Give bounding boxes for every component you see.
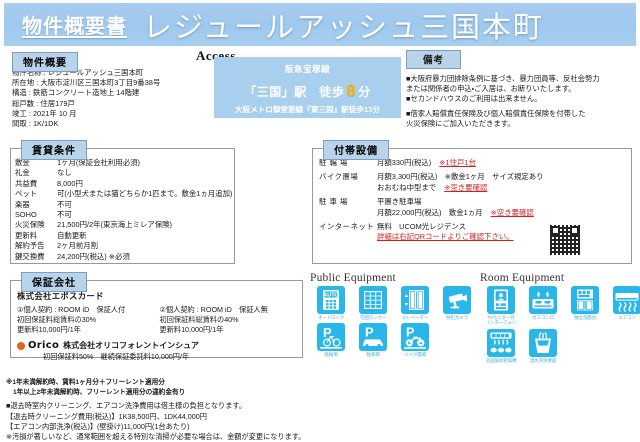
public-equipment-title: Public Equipment bbox=[310, 272, 478, 284]
plan-a-line-1: ①個人契約 : ROOM iD 保証人付 bbox=[17, 305, 160, 315]
mail-box-icon bbox=[359, 286, 387, 314]
room-equipment-title: Room Equipment bbox=[480, 272, 640, 284]
table-row: インターネット 無料 UCOM光レジデンス 詳細は右記QRコードよりご確認下さい… bbox=[319, 222, 631, 243]
auto-lock-icon: AUTO bbox=[317, 286, 345, 314]
orico-fee-detail: 初回保証料50% 継続保証委託料10,000円/年 bbox=[43, 352, 302, 362]
equipment-caption: オートロック bbox=[310, 315, 352, 320]
orico-row: Orico 株式会社オリコフォレントインシュア bbox=[17, 340, 302, 351]
rental-value-cancelnotice: 2ヶ月前月割 bbox=[57, 241, 234, 251]
equipment-item: TVモニター付 インターフォン bbox=[480, 286, 522, 326]
document-kind-title: 物件概要書 bbox=[22, 10, 127, 39]
equipment-caption: 温水洗浄便座 bbox=[522, 358, 564, 363]
equipment-item: エアコン bbox=[606, 286, 640, 326]
equipment-item: P 駐輪場 bbox=[310, 323, 352, 357]
public-equipment-group: Public Equipment AUTO bbox=[310, 272, 478, 361]
facility-parking-line1: 平置き駐車場 bbox=[377, 197, 631, 207]
svg-text:P: P bbox=[406, 326, 414, 340]
tv-intercom-icon bbox=[487, 286, 515, 314]
access-train-line: 阪急宝塚線 bbox=[214, 63, 401, 75]
rental-value-pet: 可(小型犬または猫どちらか1匹まで。敷金1ヵ月追加) bbox=[57, 189, 234, 199]
guarantee-plan-a: ①個人契約 : ROOM iD 保証人付 初回保証料総賃料の30% 更新料10,… bbox=[17, 305, 160, 334]
guarantee-inner: 株式会社エポスカード ①個人契約 : ROOM iD 保証人付 初回保証料総賃料… bbox=[11, 281, 302, 362]
access-primary-station: 「三国」駅 徒歩8分 bbox=[214, 81, 401, 101]
table-row: SOHO 不可 bbox=[15, 210, 234, 220]
svg-text:AUTO: AUTO bbox=[323, 293, 338, 299]
equipment-item: 宅配ロッカー bbox=[352, 286, 394, 320]
equipment-item: 独立洗面台 bbox=[564, 286, 606, 326]
facility-internet-note: 詳細は右記QRコードよりご確認下さい。 bbox=[377, 232, 631, 242]
facility-value-motorbike: 月額3,300円(税込) ※敷金1ヶ月 サイズ規定あり おおむね中型まで ※空き… bbox=[377, 172, 631, 193]
equipment-item: P バイク置場 bbox=[394, 323, 436, 357]
guarantee-plan-b: ②個人契約 : ROOM iD 保証人無 初回保証料総賃料の40% 更新料10,… bbox=[160, 305, 303, 334]
facilities-rows: 駐 輪 場 月額330円(税込) ※1住戸1台 バイク置場 月額3,300円(税… bbox=[313, 149, 631, 243]
orico-corporate-name: 株式会社オリコフォレントインシュア bbox=[63, 340, 199, 351]
equipment-item: エレベーター bbox=[394, 286, 436, 320]
overview-line-completion: 竣工 : 2021年 10 月 bbox=[12, 109, 210, 119]
equipment-caption: 防犯カメラ bbox=[436, 315, 478, 320]
equipment-caption: バイク置場 bbox=[394, 352, 436, 357]
access-walk-minutes: 8 bbox=[344, 81, 358, 100]
access-station-prefix: 「三国」駅 徒歩 bbox=[244, 85, 344, 99]
washlet-icon bbox=[529, 329, 557, 357]
rental-value-soho: 不可 bbox=[57, 210, 234, 220]
remarks-body: ■大阪府暴力団排除条例に基づき、暴力団員等、反社会勢力 または関係者の申込・ご入… bbox=[406, 74, 632, 129]
access-section: Access 阪急宝塚線 「三国」駅 徒歩8分 大阪メトロ御堂筋線『東三国』駅徒… bbox=[196, 48, 401, 118]
facility-internet-line1: 無料 UCOM光レジデンス bbox=[377, 222, 631, 232]
document-header: 物件概要書 レジュールアッシュ三国本町 bbox=[4, 3, 636, 46]
guarantee-company-section: 保証会社 株式会社エポスカード ①個人契約 : ROOM iD 保証人付 初回保… bbox=[10, 280, 303, 358]
equipment-caption: TVモニター付 インターフォン bbox=[480, 315, 522, 326]
facility-value-bicycle: 月額330円(税込) ※1住戸1台 bbox=[377, 158, 631, 168]
plan-a-line-2: 初回保証料総賃料の30% bbox=[17, 315, 160, 325]
facility-bicycle-note: ※1住戸1台 bbox=[439, 158, 476, 167]
equipment-caption: エレベーター bbox=[394, 315, 436, 320]
facility-parking-line2: 月額22,000円(税込) 敷金1ヵ月 bbox=[377, 208, 483, 217]
rental-key-commonfee: 共益費 bbox=[15, 179, 57, 189]
property-overview-tab: 物件概要 bbox=[12, 52, 78, 72]
overview-line-address: 所在地 : 大阪市淀川区三国本町3丁目9番38号 bbox=[12, 78, 210, 88]
facilities-tab: 付帯設備 bbox=[323, 140, 389, 160]
table-row: 礼金 なし bbox=[15, 168, 234, 178]
table-row: 駐 車 場 平置き駐車場 月額22,000円(税込) 敷金1ヵ月 ※空き要確認 bbox=[319, 197, 631, 218]
footnote-line-1: ■退去時室内クリーニング、エアコン洗浄費用は借主様の負担となります。 bbox=[6, 401, 506, 411]
footnote-line-2: 【退去時クリーニング費用(税込)】1K38,500円、1DK44,000円 bbox=[6, 412, 506, 422]
equipment-caption: 駐輪場 bbox=[310, 352, 352, 357]
equipment-caption: 浴室暖房乾燥機 bbox=[480, 358, 522, 363]
access-secondary-station: 大阪メトロ御堂筋線『東三国』駅徒歩13分 bbox=[214, 104, 401, 115]
equipment-caption: エアコン bbox=[606, 315, 640, 320]
facility-value-internet: 無料 UCOM光レジデンス 詳細は右記QRコードよりご確認下さい。 bbox=[377, 222, 631, 243]
rental-key-keyexchange: 鍵交換費 bbox=[15, 252, 57, 262]
remarks-line-2: または関係者の申込・ご入居は、お断りいたします。 bbox=[406, 84, 632, 94]
car-parking-icon: P bbox=[359, 323, 387, 351]
guarantee-company-tab: 保証会社 bbox=[21, 272, 87, 292]
svg-text:P: P bbox=[365, 325, 374, 340]
qr-code[interactable] bbox=[549, 224, 581, 256]
footnote-line-4: ※汚損が著しいなど、通常範囲を超える特別な清掃が必要な場合は、金額が変更になりま… bbox=[6, 432, 506, 442]
equipment-caption: ガスコンロ bbox=[522, 315, 564, 320]
remarks-line-1: ■大阪府暴力団排除条例に基づき、暴力団員等、反社会勢力 bbox=[406, 74, 632, 84]
rental-key-soho: SOHO bbox=[15, 210, 57, 220]
facility-motorbike-line2-wrap: おおむね中型まで ※空き要確認 bbox=[377, 183, 631, 193]
rental-conditions-rows: 敷金 1ヶ月(保証会社利用必須) 礼金 なし 共益費 8,000円 ペット 可(… bbox=[11, 149, 234, 262]
equipment-item: P 駐車場 bbox=[352, 323, 394, 357]
page-title: レジュールアッシュ三国本町 bbox=[143, 4, 544, 46]
rental-key-fireinsurance: 火災保険 bbox=[15, 220, 57, 230]
public-equipment-grid: AUTO オートロック bbox=[310, 286, 478, 361]
table-row: 共益費 8,000円 bbox=[15, 179, 234, 189]
facility-motorbike-note: ※空き要確認 bbox=[444, 183, 487, 192]
facility-key-motorbike: バイク置場 bbox=[319, 172, 377, 193]
facility-parking-note: ※空き要確認 bbox=[491, 208, 534, 217]
elevator-icon bbox=[401, 286, 429, 314]
footnotes-section: ※1年未満解約時、賃料1ヶ月分＋フリーレント適用分 1年以上2年未満解約時、フリ… bbox=[6, 378, 506, 442]
plan-b-line-2: 初回保証料総賃料の40% bbox=[160, 315, 303, 325]
overview-line-structure: 構造 : 鉄筋コンクリート造地上 14階建 bbox=[12, 88, 210, 98]
rental-value-fireinsurance: 21,500円/2年(東京海上ミレア保険) bbox=[57, 220, 234, 230]
rental-key-instrument: 楽器 bbox=[15, 200, 57, 210]
footnote-line-3: 【エアコン内部洗浄(税込)】(壁掛け)11,000円(1台あたり) bbox=[6, 422, 506, 432]
remarks-line-3: ■セカンドハウスのご利用は出来ません。 bbox=[406, 94, 632, 104]
facility-key-internet: インターネット bbox=[319, 222, 377, 243]
rental-value-keyexchange: 24,200円(税込) ※必須 bbox=[57, 252, 234, 262]
overview-line-layout: 間取 : 1K/1DK bbox=[12, 119, 210, 129]
facility-motorbike-line2: おおむね中型まで bbox=[377, 183, 436, 192]
table-row: 更新料 自動更新 bbox=[15, 231, 234, 241]
plan-a-line-3: 更新料10,000円/1年 bbox=[17, 325, 160, 335]
equipment-item: 防犯カメラ bbox=[436, 286, 478, 320]
footnote-small-1: ※1年未満解約時、賃料1ヶ月分＋フリーレント適用分 bbox=[6, 378, 506, 388]
access-minutes-suffix: 分 bbox=[358, 85, 371, 99]
equipment-caption: 宅配ロッカー bbox=[352, 315, 394, 320]
equipment-caption: 駐車場 bbox=[352, 352, 394, 357]
orico-brand-name: Orico bbox=[28, 340, 59, 351]
overview-line-units: 総戸数 : 住居179戸 bbox=[12, 99, 210, 109]
property-summary-document: 物件概要書 レジュールアッシュ三国本町 物件概要 物件名称 : レジュールアッシ… bbox=[0, 0, 640, 440]
bicycle-parking-icon: P bbox=[317, 323, 345, 351]
guarantee-plan-columns: ①個人契約 : ROOM iD 保証人付 初回保証料総賃料の30% 更新料10,… bbox=[17, 305, 302, 334]
rental-value-renewalfee: 自動更新 bbox=[57, 231, 234, 241]
rental-value-keymoney: なし bbox=[57, 168, 234, 178]
table-row: 火災保険 21,500円/2年(東京海上ミレア保険) bbox=[15, 220, 234, 230]
table-row: バイク置場 月額3,300円(税込) ※敷金1ヶ月 サイズ規定あり おおむね中型… bbox=[319, 172, 631, 193]
equipment-item: 浴室暖房乾燥機 bbox=[480, 329, 522, 363]
rental-value-commonfee: 8,000円 bbox=[57, 179, 234, 189]
facility-key-parking: 駐 車 場 bbox=[319, 197, 377, 218]
equipment-caption: 独立洗面台 bbox=[564, 315, 606, 320]
rental-key-pet: ペット bbox=[15, 189, 57, 199]
facility-parking-line2-wrap: 月額22,000円(税込) 敷金1ヵ月 ※空き要確認 bbox=[377, 208, 631, 218]
remarks-line-5: 火災保険にご加入いただきます。 bbox=[406, 119, 632, 129]
rental-key-renewalfee: 更新料 bbox=[15, 231, 57, 241]
air-conditioner-icon bbox=[613, 286, 640, 314]
facility-motorbike-line1: 月額3,300円(税込) ※敷金1ヶ月 サイズ規定あり bbox=[377, 172, 631, 182]
remarks-section: 備考 ■大阪府暴力団排除条例に基づき、暴力団員等、反社会勢力 または関係者の申込… bbox=[406, 50, 632, 130]
plan-b-line-3: 更新料10,000円/1年 bbox=[160, 325, 303, 335]
table-row: 鍵交換費 24,200円(税込) ※必須 bbox=[15, 252, 234, 262]
equipment-item: ガスコンロ bbox=[522, 286, 564, 326]
room-equipment-grid: TVモニター付 インターフォン bbox=[480, 286, 640, 366]
table-row: ペット 可(小型犬または猫どちらか1匹まで。敷金1ヵ月追加) bbox=[15, 189, 234, 199]
table-row: 楽器 不可 bbox=[15, 200, 234, 210]
bath-dryer-icon bbox=[487, 329, 515, 357]
rental-value-instrument: 不可 bbox=[57, 200, 234, 210]
remarks-line-4: ■借家人賠償責任保険及び個人賠償責任保険を付帯した bbox=[406, 109, 632, 119]
table-row: 解約予告 2ヶ月前月割 bbox=[15, 241, 234, 251]
security-camera-icon bbox=[443, 286, 471, 314]
equipment-section: Public Equipment AUTO bbox=[310, 272, 635, 382]
motorbike-parking-icon: P bbox=[401, 323, 429, 351]
room-equipment-group: Room Equipment TVモニタ bbox=[480, 272, 640, 366]
facilities-section: 付帯設備 駐 輪 場 月額330円(税込) ※1住戸1台 バイク置場 月額3,3… bbox=[312, 148, 632, 264]
equipment-item: AUTO オートロック bbox=[310, 286, 352, 320]
rental-conditions-section: 賃貸条件 敷金 1ヶ月(保証会社利用必須) 礼金 なし 共益費 8,000円 ペ… bbox=[10, 148, 235, 264]
equipment-item: 温水洗浄便座 bbox=[522, 329, 564, 363]
access-panel: 阪急宝塚線 「三国」駅 徒歩8分 大阪メトロ御堂筋線『東三国』駅徒歩13分 bbox=[214, 57, 401, 118]
rental-conditions-tab: 賃貸条件 bbox=[21, 140, 87, 160]
orico-logo-icon bbox=[17, 342, 25, 350]
rental-key-keymoney: 礼金 bbox=[15, 168, 57, 178]
plan-b-line-1: ②個人契約 : ROOM iD 保証人無 bbox=[160, 305, 303, 315]
gas-stove-icon bbox=[529, 286, 557, 314]
independent-washbasin-icon bbox=[571, 286, 599, 314]
footnote-small-2: 1年以上2年未満解約時、フリーレント適用分の違約金有り bbox=[6, 388, 506, 398]
svg-text:P: P bbox=[323, 325, 332, 340]
rental-key-cancelnotice: 解約予告 bbox=[15, 241, 57, 251]
property-overview-section: 物件概要 物件名称 : レジュールアッシュ三国本町 所在地 : 大阪市淀川区三国… bbox=[10, 52, 210, 130]
remarks-tab: 備考 bbox=[406, 50, 461, 69]
facility-value-parking: 平置き駐車場 月額22,000円(税込) 敷金1ヵ月 ※空き要確認 bbox=[377, 197, 631, 218]
